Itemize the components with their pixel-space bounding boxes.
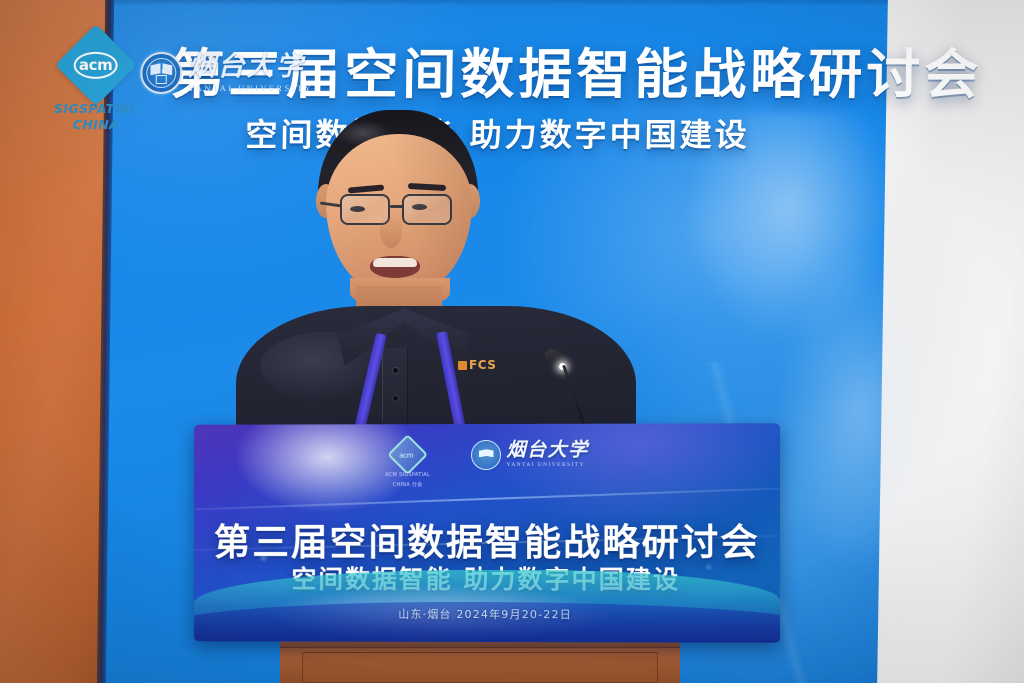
podium-university-logo: 烟台大学 YANTAI UNIVERSITY (471, 440, 588, 470)
open-book-icon (150, 63, 172, 75)
podium-university-name-en: YANTAI UNIVERSITY (506, 463, 588, 469)
university-name-cn: 烟台大学 (188, 53, 313, 80)
podium-acm-line2: CHINA 分会 (382, 481, 434, 488)
wooden-podium-base (280, 640, 680, 683)
sign-glow-line-1 (194, 485, 780, 512)
acm-oval-icon: acm (74, 52, 118, 79)
screenshot-stage: 第三届空间数据智能战略研讨会 空间数据智能 助力数字中国建设 烟台大学 YANT… (0, 0, 1024, 683)
seal-pedestal-icon (156, 75, 167, 84)
podium-sign-logo-row: acm ACM SIGSPATIAL CHINA 分会 烟台大学 YANTAI … (194, 439, 780, 488)
podium-acm-wordmark: acm (394, 442, 419, 471)
podium-acm-logo: acm ACM SIGSPATIAL CHINA 分会 (382, 440, 434, 488)
fcs-square-icon (458, 361, 467, 370)
podium-front-panel (302, 652, 658, 683)
podium-acm-diamond-icon: acm (387, 434, 428, 475)
acm-logo-line2: CHINA (40, 117, 152, 132)
shirt-button-top (393, 368, 398, 373)
speaker-teeth (373, 258, 417, 267)
shirt-button-bottom (393, 396, 398, 401)
podium-university-name-block: 烟台大学 YANTAI UNIVERSITY (506, 441, 588, 469)
glasses-lens-right (402, 194, 452, 225)
acm-diamond-icon: acm (55, 24, 137, 106)
speaker-mouth (370, 256, 420, 278)
glasses-bridge (390, 205, 404, 208)
podium-acm-line1: ACM SIGSPATIAL (382, 472, 434, 478)
speaker-glasses-icon (334, 194, 470, 228)
podium-sign-board: acm ACM SIGSPATIAL CHINA 分会 烟台大学 YANTAI … (194, 423, 780, 642)
university-name-en: YANTAI UNIVERSITY (188, 84, 313, 93)
speaker-nose (380, 214, 402, 248)
fcs-wordmark: FCS (469, 358, 496, 372)
banner-top-stripe (98, 0, 888, 6)
acm-sigspatial-china-logo: acm SIGSPATIAL CHINA (40, 36, 152, 132)
shirt-fcs-logo: FCS (458, 358, 496, 372)
podium-university-name-cn: 烟台大学 (506, 441, 588, 460)
acm-wordmark: acm (79, 58, 112, 73)
shirt-placket (382, 348, 408, 422)
banner-university-logo: 烟台大学 YANTAI UNIVERSITY (140, 52, 313, 94)
podium-university-seal-icon (471, 440, 501, 470)
university-name-block: 烟台大学 YANTAI UNIVERSITY (188, 53, 313, 93)
podium-sign-date-location: 山东·烟台 2024年9月20-22日 (194, 606, 780, 623)
